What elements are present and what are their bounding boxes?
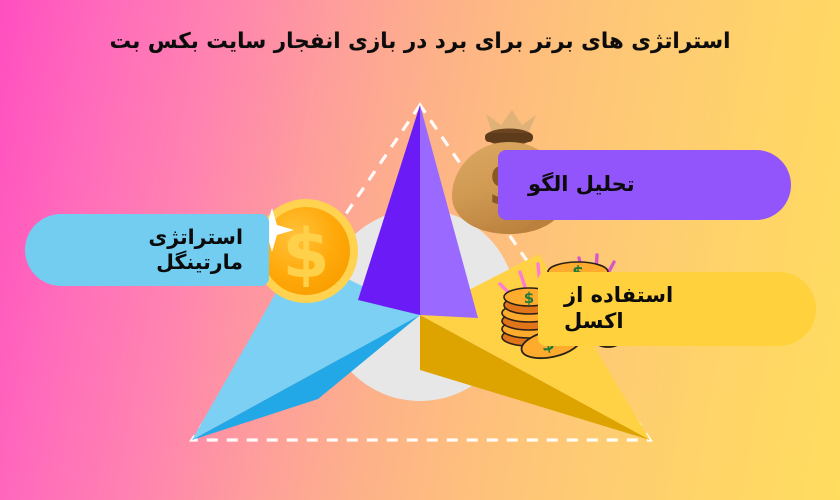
svg-text:$: $ <box>524 289 534 307</box>
label-pattern-analysis[interactable]: تحلیل الگو <box>498 150 791 220</box>
svg-text:$: $ <box>282 215 329 294</box>
infographic-canvas: $ $ <box>0 0 840 500</box>
page-title: استراتژی های برتر برای برد در بازی انفجا… <box>0 26 840 57</box>
label-excel-usage[interactable]: استفاده از اکسل <box>538 272 816 346</box>
label-martingale-strategy-text: استراتژی مارتینگل <box>25 225 243 275</box>
label-martingale-strategy[interactable]: استراتژی مارتینگل <box>25 214 269 286</box>
label-excel-usage-text: استفاده از اکسل <box>564 283 816 334</box>
label-pattern-analysis-text: تحلیل الگو <box>528 172 791 198</box>
